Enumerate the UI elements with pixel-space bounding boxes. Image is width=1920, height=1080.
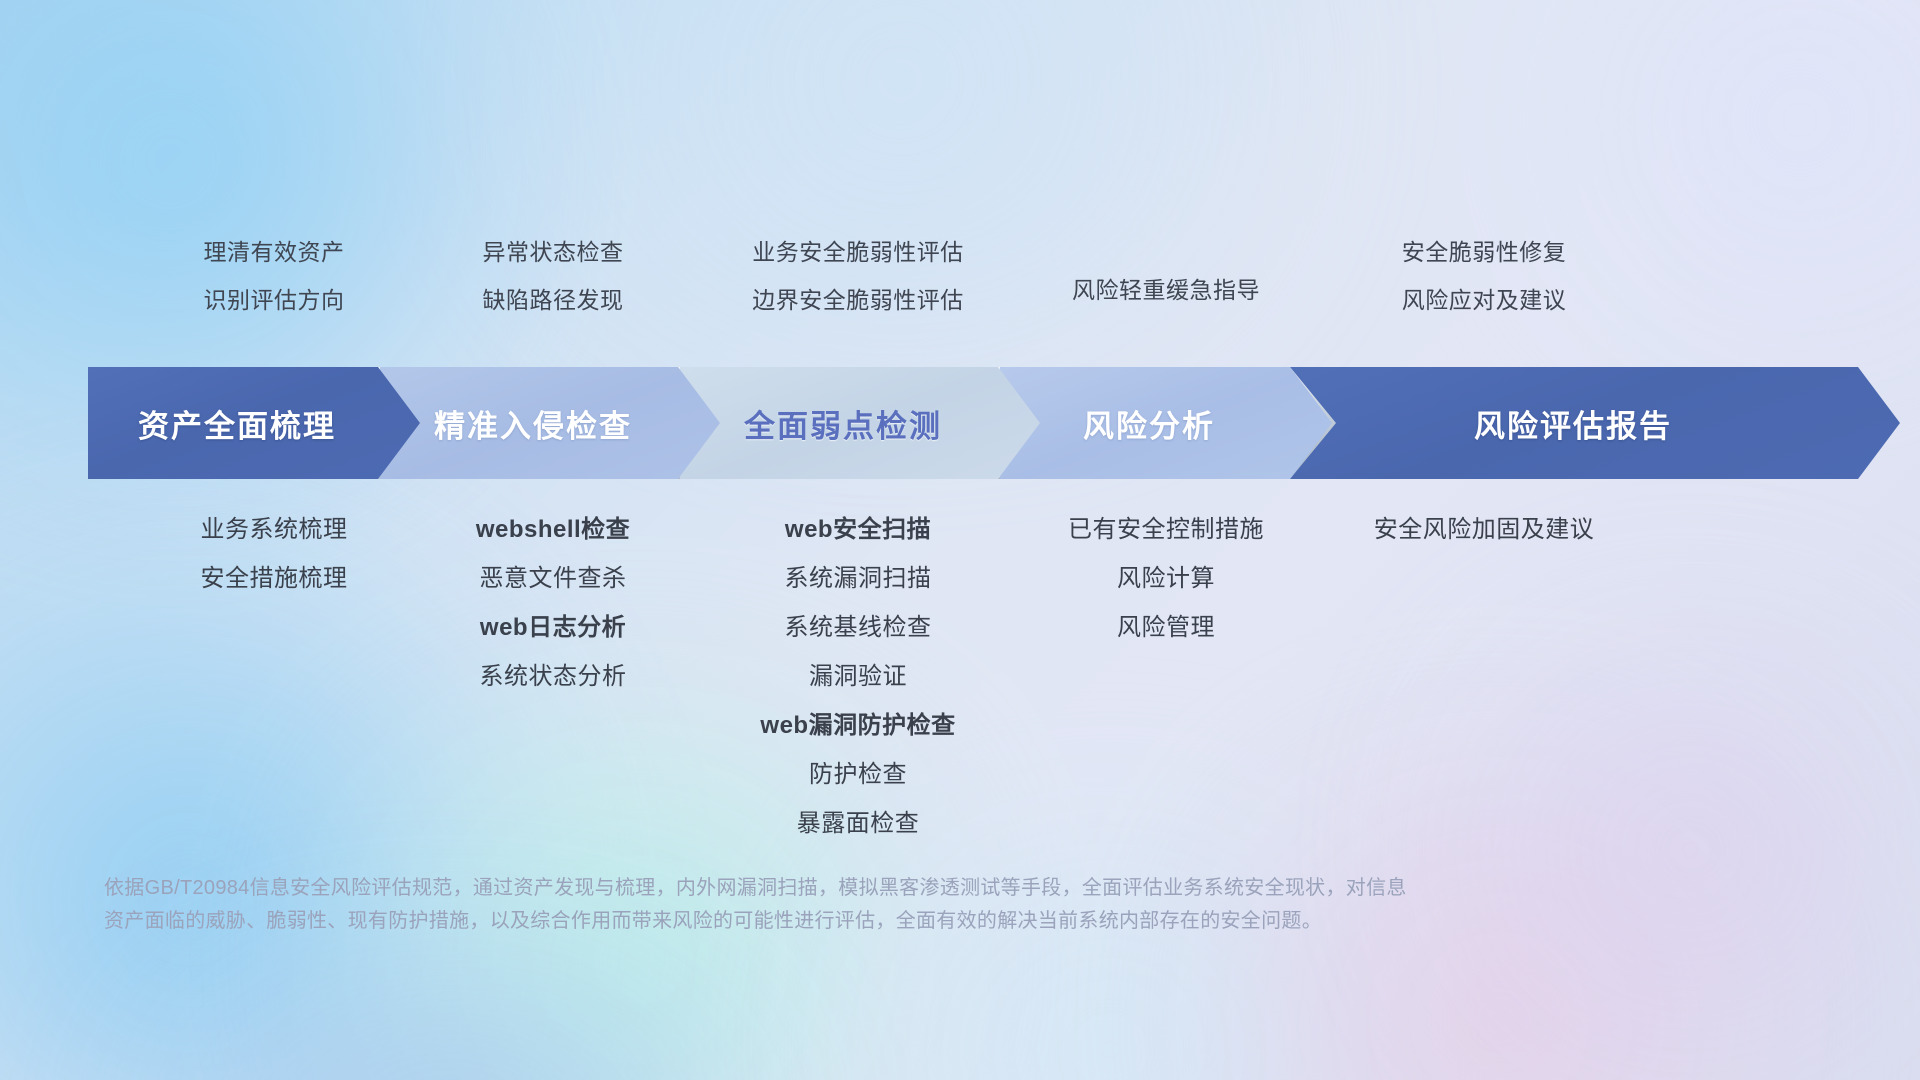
description-footer: 依据GB/T20984信息安全风险评估规范，通过资产发现与梳理，内外网漏洞扫描，… (104, 872, 1804, 938)
chevron-step-5[interactable]: 风险评估报告 (1280, 367, 1900, 479)
outcome-item: 业务安全脆弱性评估 (752, 228, 964, 276)
chevron-step-label: 风险分析 (1000, 401, 1332, 446)
step-activities-5: 安全风险加固及建议 (1274, 505, 1694, 554)
activity-item: 防护检查 (809, 750, 907, 799)
activity-item: webshell检查 (476, 505, 630, 554)
activity-item: 漏洞验证 (809, 652, 907, 701)
activity-item: 业务系统梳理 (201, 505, 348, 554)
outcome-item: 安全脆弱性修复 (1402, 228, 1567, 276)
chevron-step-label: 精准入侵检查 (380, 401, 720, 446)
activity-item: 风险管理 (1117, 603, 1215, 652)
activity-item: 系统基线检查 (785, 603, 932, 652)
outcome-item: 异常状态检查 (483, 228, 624, 276)
infographic-canvas: 理清有效资产识别评估方向异常状态检查缺陷路径发现业务安全脆弱性评估边界安全脆弱性… (0, 0, 1920, 1080)
activity-item: web漏洞防护检查 (760, 701, 955, 750)
outcome-item: 识别评估方向 (204, 276, 345, 324)
step-outcomes-5: 安全脆弱性修复风险应对及建议 (1284, 228, 1684, 360)
outcome-item: 风险应对及建议 (1402, 276, 1567, 324)
outcome-item: 理清有效资产 (204, 228, 345, 276)
activity-item: 风险计算 (1117, 554, 1215, 603)
activity-item: 暴露面检查 (797, 799, 920, 848)
activity-item: web安全扫描 (785, 505, 931, 554)
chevron-step-1[interactable]: 资产全面梳理 (88, 367, 420, 479)
activity-item: 系统漏洞扫描 (785, 554, 932, 603)
outcome-item: 边界安全脆弱性评估 (752, 276, 964, 324)
chevron-step-2[interactable]: 精准入侵检查 (380, 367, 720, 479)
process-chevron-banner: 资产全面梳理精准入侵检查全面弱点检测风险分析风险评估报告 (88, 367, 1900, 479)
chevron-step-3[interactable]: 全面弱点检测 (680, 367, 1040, 479)
outcome-item: 缺陷路径发现 (483, 276, 624, 324)
chevron-step-label: 全面弱点检测 (680, 401, 1040, 446)
footer-line-1: 依据GB/T20984信息安全风险评估规范，通过资产发现与梳理，内外网漏洞扫描，… (104, 872, 1804, 905)
chevron-step-label: 风险评估报告 (1280, 401, 1900, 446)
activity-item: 安全风险加固及建议 (1374, 505, 1595, 554)
activity-item: web日志分析 (480, 603, 626, 652)
chevron-step-label: 资产全面梳理 (88, 401, 420, 446)
step-outcomes-row: 理清有效资产识别评估方向异常状态检查缺陷路径发现业务安全脆弱性评估边界安全脆弱性… (88, 228, 1900, 360)
activity-item: 恶意文件查杀 (480, 554, 627, 603)
activity-item: 已有安全控制措施 (1068, 505, 1264, 554)
activity-item: 系统状态分析 (480, 652, 627, 701)
footer-line-2: 资产面临的威胁、脆弱性、现有防护措施，以及综合作用而带来风险的可能性进行评估，全… (104, 905, 1804, 938)
outcome-item: 风险轻重缓急指导 (1072, 266, 1260, 314)
chevron-step-4[interactable]: 风险分析 (1000, 367, 1332, 479)
activity-item: 安全措施梳理 (201, 554, 348, 603)
